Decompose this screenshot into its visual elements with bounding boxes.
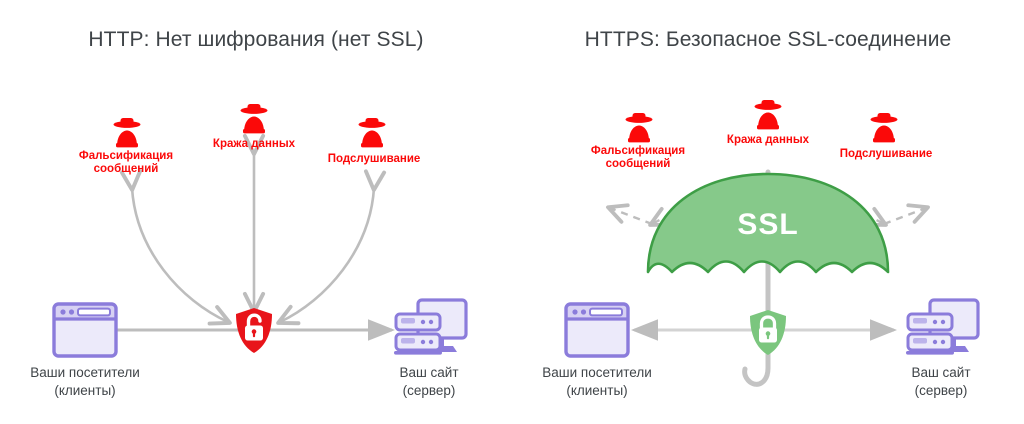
node-label-clients: Ваши посетители (клиенты) [15, 364, 155, 400]
http-diagram-svg [0, 0, 512, 424]
server-monitor-icon [906, 300, 978, 355]
node-label-clients: Ваши посетители (клиенты) [527, 364, 667, 400]
threat-label: Фальсификация сообщений [66, 150, 186, 176]
node-label-server: Ваш сайт (сервер) [884, 364, 998, 400]
unlocked-shield-icon [236, 308, 272, 353]
threat-label: Подслушивание [824, 148, 948, 161]
hacker-icon [114, 118, 141, 147]
hacker-icon [871, 113, 898, 142]
browser-window-icon [54, 304, 116, 356]
ssl-umbrella-text: SSL [708, 208, 828, 242]
hacker-icon [626, 113, 653, 142]
hacker-icon [241, 104, 268, 133]
hacker-icon [359, 118, 386, 147]
browser-window-icon [566, 304, 628, 356]
node-label-server: Ваш сайт (сервер) [372, 364, 486, 400]
locked-shield-icon [750, 310, 786, 355]
threat-label: Кража данных [708, 134, 828, 147]
panel-http: HTTP: Нет шифрования (нет SSL) [0, 0, 512, 424]
threat-label: Фальсификация сообщений [578, 145, 698, 171]
threat-label: Кража данных [194, 138, 314, 151]
panel-https: HTTPS: Безопасное SSL-соединение [512, 0, 1024, 424]
http-attack-arrow-left [132, 188, 228, 322]
server-monitor-icon [394, 300, 466, 355]
http-attack-arrow-right [280, 188, 374, 322]
threat-label: Подслушивание [312, 153, 436, 166]
hacker-icon [755, 100, 782, 129]
